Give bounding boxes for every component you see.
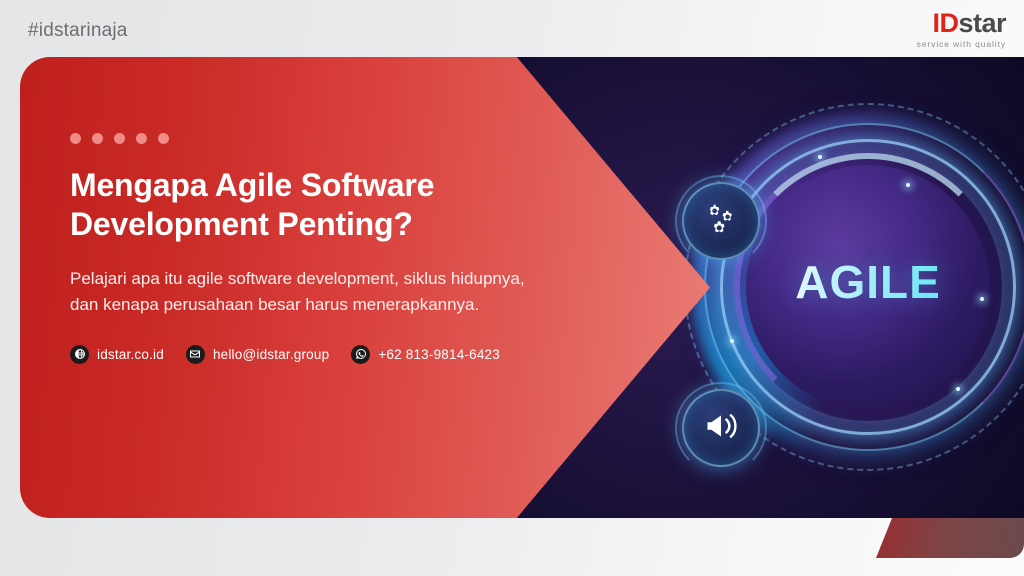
- hero-copy: Mengapa Agile Software Development Penti…: [70, 133, 540, 364]
- megaphone-icon: [703, 408, 739, 449]
- page-title: Mengapa Agile Software Development Penti…: [70, 166, 490, 244]
- contact-phone-label: +62 813-9814-6423: [378, 347, 500, 362]
- dot: [70, 133, 81, 144]
- gears-bubble: [682, 182, 760, 260]
- contact-email[interactable]: hello@idstar.group: [186, 345, 329, 364]
- globe-icon: [70, 345, 89, 364]
- orb-spark: [906, 183, 910, 187]
- dot: [158, 133, 169, 144]
- page-subtitle: Pelajari apa itu agile software developm…: [70, 266, 525, 319]
- gears-icon: [703, 201, 739, 242]
- dot: [114, 133, 125, 144]
- logo-tagline: service with quality: [917, 40, 1006, 49]
- logo-id-text: ID: [932, 8, 958, 38]
- dot: [92, 133, 103, 144]
- contact-row: idstar.co.id hello@idstar.group: [70, 345, 540, 364]
- brand-logo: IDstar service with quality: [917, 10, 1006, 49]
- contact-phone[interactable]: +62 813-9814-6423: [351, 345, 500, 364]
- orb-spark: [818, 155, 822, 159]
- contact-email-label: hello@idstar.group: [213, 347, 329, 362]
- decorative-dots: [70, 133, 540, 144]
- logo-wordmark: IDstar: [917, 10, 1006, 37]
- whatsapp-icon: [351, 345, 370, 364]
- logo-star-text: star: [958, 8, 1006, 38]
- contact-website-label: idstar.co.id: [97, 347, 164, 362]
- hero-card: AGILE: [20, 57, 1024, 518]
- hashtag-label: #idstarinaja: [28, 20, 128, 42]
- orb-spark: [730, 339, 734, 343]
- dot: [136, 133, 147, 144]
- envelope-icon: [186, 345, 205, 364]
- promo-banner: #idstarinaja IDstar service with quality…: [0, 0, 1024, 576]
- megaphone-bubble: [682, 389, 760, 467]
- contact-website[interactable]: idstar.co.id: [70, 345, 164, 364]
- orb-spark: [956, 387, 960, 391]
